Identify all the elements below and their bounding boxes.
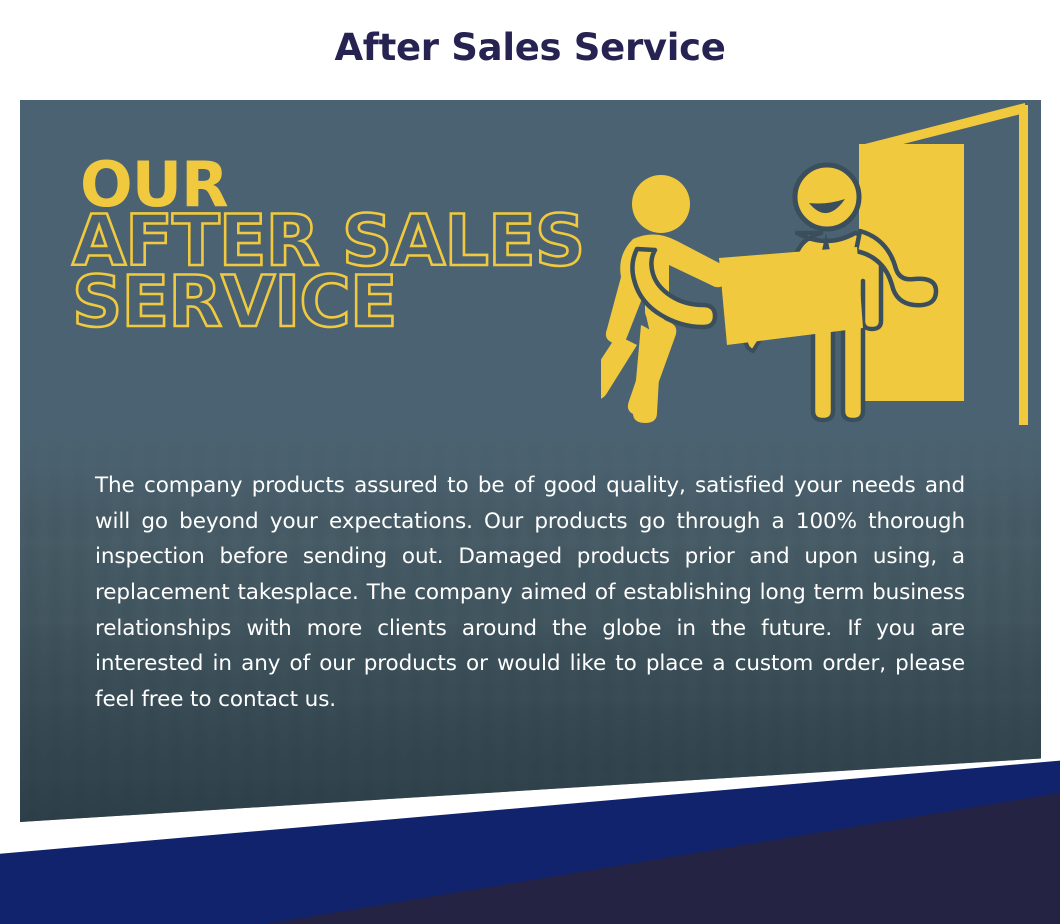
page-title: After Sales Service (0, 28, 1060, 69)
hero-panel: OUR AFTER SALES SERVICE (20, 100, 1041, 822)
hero-headline: OUR AFTER SALES SERVICE (56, 158, 584, 332)
delivery-and-technician-illustration (601, 100, 1041, 444)
hero-body-text: The company products assured to be of go… (95, 468, 965, 718)
